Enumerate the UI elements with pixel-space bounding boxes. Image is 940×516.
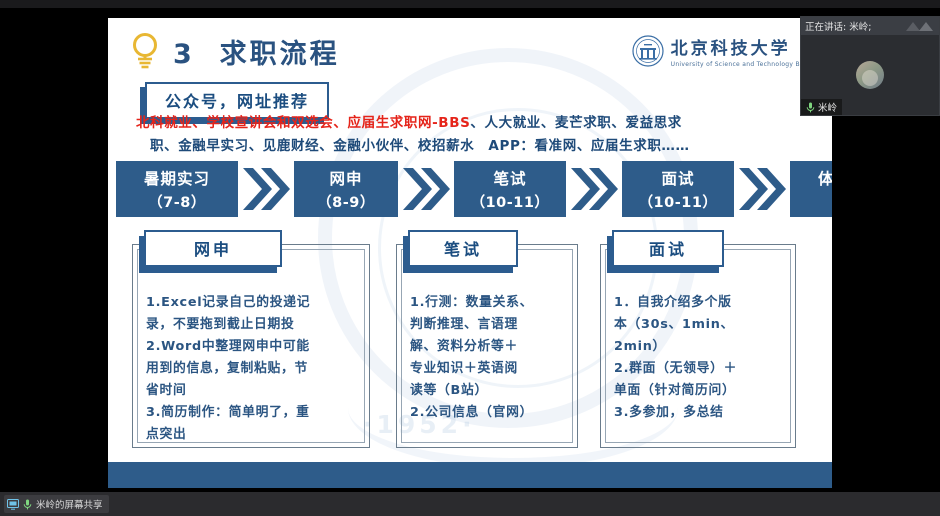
screen-share-label: 米岭的屏幕共享: [36, 497, 103, 511]
card-line: 专业知识＋英语阅: [410, 358, 568, 380]
card-line: 3.简历制作：简单明了，重: [146, 402, 360, 424]
detail-card-mianshi: 面试 1．自我介绍多个版 本（30s、1min、 2min） 2.群面（无领导）…: [600, 244, 796, 448]
shared-screen-stage: ·1952· 3 求职流程: [0, 8, 940, 492]
card-line: 2.Word中整理网申中可能: [146, 336, 360, 358]
resource-line-1: 北科就业、学校宣讲会和双选会、应届生求职网-BBS、人大就业、麦芒求职、爱益思求: [136, 112, 812, 135]
timeline-step-4-name: 面试: [661, 167, 694, 189]
timeline-step-5-period: （12）: [825, 191, 832, 212]
presentation-slide: ·1952· 3 求职流程: [108, 18, 832, 488]
card-line: 用到的信息，复制粘贴，节: [146, 358, 360, 380]
timeline-step-3: 笔试 （10-11）: [454, 161, 566, 217]
taskbar: 米岭的屏幕共享: [0, 492, 940, 516]
timeline-step-5: 体检签约 （12）: [790, 161, 832, 217]
card-body-wangshen: 1.Excel记录自己的投递记 录，不要拖到截止日期投 2.Word中整理网申中…: [146, 292, 360, 446]
resource-list: 北科就业、学校宣讲会和双选会、应届生求职网-BBS、人大就业、麦芒求职、爱益思求…: [136, 112, 812, 158]
timeline-step-2: 网申 （8-9）: [294, 161, 398, 217]
participant-name: 米岭: [818, 100, 837, 114]
video-tile-header: 正在讲话: 米岭;: [801, 17, 939, 35]
university-seal-icon: [632, 35, 664, 67]
university-name-cn: 北京科技大学: [671, 34, 818, 59]
timeline-step-5-name: 体检签约: [818, 167, 832, 189]
card-line: 读等（B站）: [410, 380, 568, 402]
card-line: 2.群面（无领导）＋: [614, 358, 786, 380]
card-line: 解、资料分析等＋: [410, 336, 568, 358]
section-title: 求职流程: [220, 39, 340, 70]
screen-share-taskbar-item[interactable]: 米岭的屏幕共享: [4, 495, 109, 513]
microphone-icon: [23, 499, 32, 510]
card-tab-mianshi: 面试: [612, 230, 724, 267]
card-line: 2.公司信息（官网）: [410, 402, 568, 424]
card-line: 2min）: [614, 336, 786, 358]
microphone-icon: [806, 102, 815, 113]
card-line: 省时间: [146, 380, 360, 402]
timeline-step-1-name: 暑期实习: [144, 167, 210, 189]
section-number: 3: [173, 39, 195, 70]
card-line: 1.Excel记录自己的投递记: [146, 292, 360, 314]
timeline-step-2-period: （8-9）: [317, 191, 375, 212]
card-line: 点突出: [146, 424, 360, 446]
screen-share-icon: [7, 499, 19, 510]
university-name-en: University of Science and Technology Bei…: [671, 61, 818, 68]
card-line: 3.多参加，多总结: [614, 402, 786, 424]
card-line: 1.行测：数量关系、: [410, 292, 568, 314]
card-line: 单面（针对简历问）: [614, 380, 786, 402]
video-tile-stage: 米岭: [801, 35, 939, 115]
timeline-step-3-name: 笔试: [493, 167, 526, 189]
page-title: 3 求职流程: [173, 32, 340, 71]
timeline-step-1: 暑期实习 （7-8）: [116, 161, 238, 217]
timeline-step-4: 面试 （10-11）: [622, 161, 734, 217]
double-chevron-right-icon: [398, 161, 454, 217]
timeline-step-4-period: （10-11）: [639, 191, 718, 212]
card-tab-wangshen: 网申: [144, 230, 282, 267]
card-body-bishi: 1.行测：数量关系、 判断推理、言语理 解、资料分析等＋ 专业知识＋英语阅 读等…: [410, 292, 568, 424]
participant-name-bar: 米岭: [801, 99, 842, 115]
timeline-step-2-name: 网申: [329, 167, 362, 189]
card-tab-bishi: 笔试: [408, 230, 518, 267]
card-line: 判断推理、言语理: [410, 314, 568, 336]
university-logo: 北京科技大学 University of Science and Technol…: [632, 34, 818, 68]
screen-share-view: ·1952· 3 求职流程: [0, 0, 940, 516]
speaking-status-label: 正在讲话: 米岭;: [805, 19, 871, 33]
double-chevron-right-icon: [566, 161, 622, 217]
detail-card-bishi: 笔试 1.行测：数量关系、 判断推理、言语理 解、资料分析等＋ 专业知识＋英语阅…: [396, 244, 578, 448]
double-chevron-collapse-icon[interactable]: [905, 20, 935, 32]
card-line: 录，不要拖到截止日期投: [146, 314, 360, 336]
timeline-step-3-period: （10-11）: [471, 191, 550, 212]
detail-cards: 网申 1.Excel记录自己的投递记 录，不要拖到截止日期投 2.Word中整理…: [126, 230, 816, 448]
resource-line-1-blue: 、人大就业、麦芒求职、爱益思求: [470, 115, 682, 131]
resource-line-2: 职、金融早实习、见鹿财经、金融小伙伴、校招薪水 APP：看准网、应届生求职……: [136, 135, 812, 158]
lightbulb-icon: [128, 30, 162, 70]
participant-video-tile[interactable]: 正在讲话: 米岭; 米岭: [800, 16, 940, 116]
timeline-step-1-period: （7-8）: [148, 191, 206, 212]
slide-footer-bar: [108, 462, 832, 488]
double-chevron-right-icon: [734, 161, 790, 217]
process-timeline: 暑期实习 （7-8） 网申 （8-9）: [116, 161, 828, 217]
card-line: 1．自我介绍多个版: [614, 292, 786, 314]
card-line: 本（30s、1min、: [614, 314, 786, 336]
detail-card-wangshen: 网申 1.Excel记录自己的投递记 录，不要拖到截止日期投 2.Word中整理…: [132, 244, 370, 448]
avatar: [856, 61, 884, 89]
card-body-mianshi: 1．自我介绍多个版 本（30s、1min、 2min） 2.群面（无领导）＋ 单…: [614, 292, 786, 424]
double-chevron-right-icon: [238, 161, 294, 217]
resource-line-1-red: 北科就业、学校宣讲会和双选会、应届生求职网-BBS: [136, 115, 470, 131]
